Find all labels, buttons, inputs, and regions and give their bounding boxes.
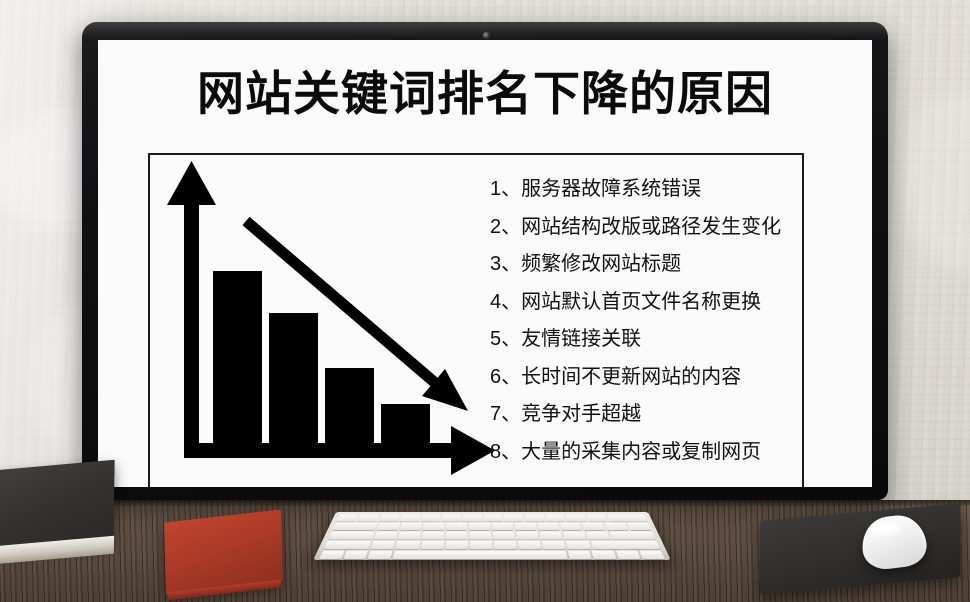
bar-4 [381,404,430,443]
reason-list: 1、 服务器故障系统错误 2、 网站结构改版或路径发生变化 3、 频繁修改网站标… [490,179,810,479]
list-item: 5、 友情链接关联 [490,329,810,367]
list-item: 4、 网站默认首页文件名称更换 [490,292,810,330]
list-item-number: 8、 [490,442,521,462]
list-item-number: 7、 [490,404,521,424]
bar-3 [325,368,374,443]
bar-1 [213,271,262,443]
list-item-number: 4、 [490,292,521,312]
list-item: 2、 网站结构改版或路径发生变化 [490,217,810,255]
monitor-screen: 网站关键词排名下降的原因 [98,40,872,487]
list-item-label: 友情链接关联 [521,329,641,349]
list-item-label: 网站默认首页文件名称更换 [521,292,761,312]
content-box: 1、 服务器故障系统错误 2、 网站结构改版或路径发生变化 3、 频繁修改网站标… [148,153,804,487]
red-notebook [164,509,283,594]
list-item: 1、 服务器故障系统错误 [490,179,810,217]
desk-edge [0,500,970,506]
white-keyboard[interactable] [313,512,671,560]
list-item-label: 长时间不更新网站的内容 [521,367,741,387]
page-title: 网站关键词排名下降的原因 [98,70,872,117]
list-item: 6、 长时间不更新网站的内容 [490,367,810,405]
declining-bar-chart [150,155,510,487]
list-item-number: 5、 [490,329,521,349]
list-item-number: 2、 [490,217,521,237]
list-item: 7、 竞争对手超越 [490,404,810,442]
y-axis-arrow [167,161,216,458]
list-item: 3、 频繁修改网站标题 [490,254,810,292]
bar-2 [269,313,318,443]
list-item-label: 竞争对手超越 [521,404,641,424]
computer-monitor: 网站关键词排名下降的原因 [82,22,888,500]
list-item-label: 服务器故障系统错误 [521,179,701,199]
webcam-icon [483,32,490,39]
list-item-label: 大量的采集内容或复制网页 [521,442,761,462]
scene: 网站关键词排名下降的原因 [0,0,970,602]
list-item-number: 1、 [490,179,521,199]
list-item-number: 3、 [490,254,521,274]
list-item-label: 频繁修改网站标题 [521,254,681,274]
list-item-number: 6、 [490,367,521,387]
list-item: 8、 大量的采集内容或复制网页 [490,442,810,480]
list-item-label: 网站结构改版或路径发生变化 [521,217,781,237]
